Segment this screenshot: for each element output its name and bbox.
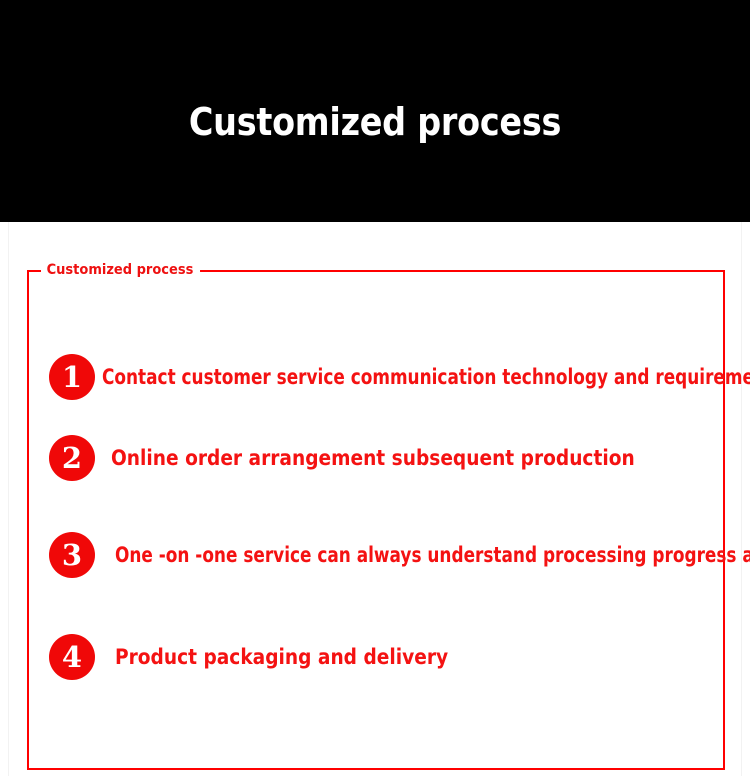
page-guide-right <box>741 222 742 776</box>
step-number-badge: 1 <box>49 354 95 400</box>
customized-process-panel: Customized process 1 Contact customer se… <box>27 270 725 770</box>
step-label: Contact customer service communication t… <box>102 364 750 390</box>
page-title: Customized process <box>45 96 705 148</box>
list-item: 1 Contact customer service communication… <box>29 349 723 405</box>
step-label: One -on -one service can always understa… <box>115 542 750 568</box>
step-number-badge: 3 <box>49 532 95 578</box>
list-item: 3 One -on -one service can always unders… <box>29 527 723 583</box>
page-guide-left <box>8 222 9 776</box>
header-banner: Customized process <box>0 0 750 222</box>
step-number-badge: 4 <box>49 634 95 680</box>
step-label: Online order arrangement subsequent prod… <box>111 445 635 471</box>
list-item: 4 Product packaging and delivery <box>29 629 723 685</box>
product-description-page: Customized process Customized process 1 … <box>0 0 750 776</box>
step-label: Product packaging and delivery <box>115 644 448 670</box>
step-number-badge: 2 <box>49 435 95 481</box>
process-steps-list: 1 Contact customer service communication… <box>29 272 723 768</box>
list-item: 2 Online order arrangement subsequent pr… <box>29 430 723 486</box>
